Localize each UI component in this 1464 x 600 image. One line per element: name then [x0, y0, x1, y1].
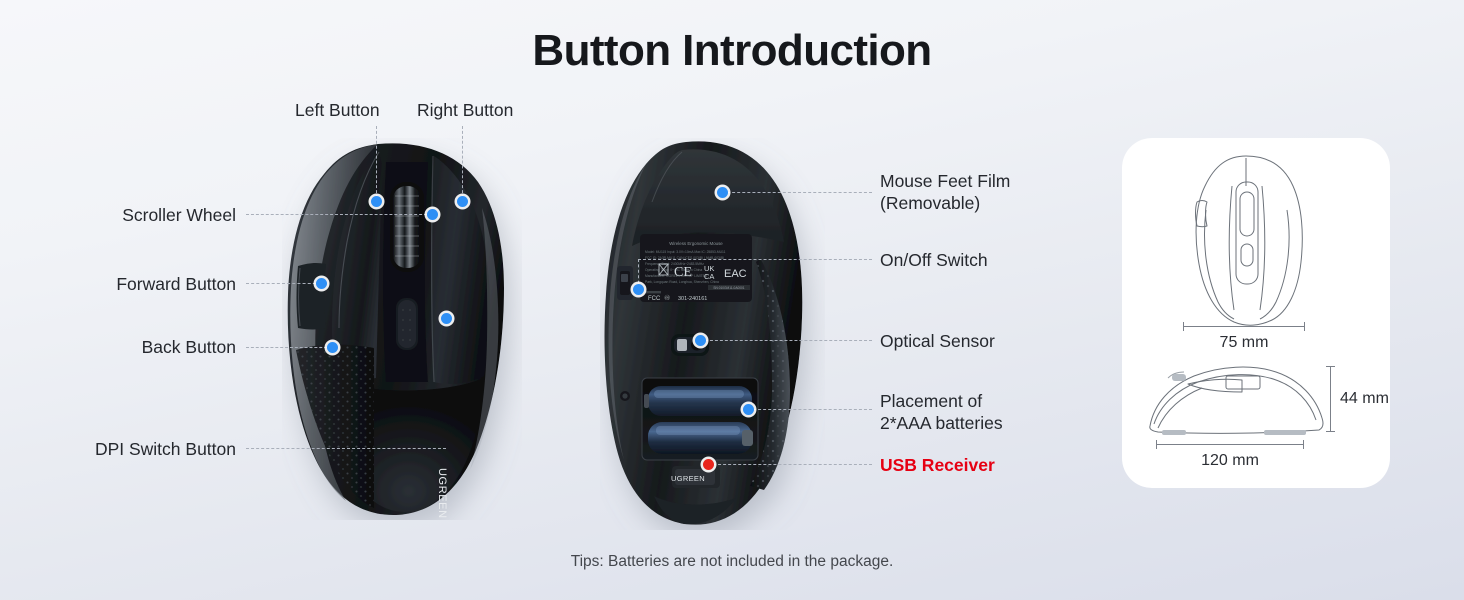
svg-text:CA: CA: [704, 272, 714, 281]
callout-label-scroller-wheel: Scroller Wheel: [36, 204, 236, 226]
dimension-height-label: 44 mm: [1340, 390, 1389, 408]
callout-label-right-button: Right Button: [417, 99, 513, 121]
leader-line-right-button: [462, 126, 463, 198]
dimension-tick-width-left: [1183, 322, 1184, 331]
leader-line-forward-button: [246, 283, 321, 284]
hotspot-back-button[interactable]: [327, 342, 338, 353]
leader-line-scroller-wheel: [246, 214, 432, 215]
callout-label-battery-placement: Placement of 2*AAA batteries: [880, 390, 1100, 434]
callout-label-left-button: Left Button: [295, 99, 380, 121]
battery-compartment: [642, 378, 758, 460]
dimension-side-view-outline: [1144, 364, 1344, 442]
callout-label-usb-receiver: USB Receiver: [880, 454, 1100, 476]
hotspot-right-button[interactable]: [457, 196, 468, 207]
leader-line-usb-receiver: [708, 464, 872, 465]
leader-line-back-button: [246, 347, 332, 348]
regulatory-label: Wireless Ergonomic Mouse Model: MU115 In…: [640, 234, 752, 302]
dimension-bar-length: [1156, 444, 1304, 445]
leader-line-optical-sensor: [700, 340, 872, 341]
dimension-tick-height-top: [1326, 366, 1335, 367]
mouse-bottom-view-image: Wireless Ergonomic Mouse Model: MU115 In…: [600, 138, 825, 530]
leader-line-mouse-feet-film: [722, 192, 872, 193]
hotspot-forward-button[interactable]: [316, 278, 327, 289]
page-title: Button Introduction: [0, 26, 1464, 76]
callout-label-dpi-switch-button: DPI Switch Button: [36, 438, 236, 460]
dimension-length-label: 120 mm: [1122, 452, 1338, 470]
dimension-bar-width: [1183, 326, 1305, 327]
ugreen-logo-receiver: UGREEN: [671, 474, 705, 483]
hotspot-scroller-wheel[interactable]: [427, 209, 438, 220]
ugreen-logo-top-view: UGREEN: [436, 468, 448, 519]
leader-line-left-button: [376, 126, 377, 198]
usb-receiver: UGREEN: [671, 466, 720, 488]
svg-text:FCC: FCC: [648, 296, 661, 302]
hotspot-battery-placement[interactable]: [743, 404, 754, 415]
dimension-tick-length-right: [1303, 440, 1304, 449]
svg-text:CE: CE: [674, 265, 692, 280]
callout-label-back-button: Back Button: [36, 336, 236, 358]
callout-label-mouse-feet-film: Mouse Feet Film (Removable): [880, 170, 1100, 214]
svg-text:EAC: EAC: [724, 268, 747, 280]
svg-text:♾: ♾: [664, 294, 670, 302]
hotspot-dpi-switch-button[interactable]: [441, 313, 452, 324]
tips-note: Tips: Batteries are not included in the …: [0, 553, 1464, 571]
svg-text:301-240161: 301-240161: [678, 296, 707, 302]
svg-text:Wireless Ergonomic Mouse: Wireless Ergonomic Mouse: [669, 241, 723, 246]
leader-line-on-off-switch: [638, 259, 872, 260]
dimension-bar-height: [1330, 366, 1331, 432]
dimension-tick-length-left: [1156, 440, 1157, 449]
dimension-tick-width-right: [1304, 322, 1305, 331]
svg-text:Model: MU115 Input: 3.0V=10m: Model: MU115 Input: 3.0V=10mA Max IC: 25…: [645, 250, 726, 254]
hotspot-mouse-feet-film[interactable]: [717, 187, 728, 198]
dimension-tick-height-bottom: [1326, 431, 1335, 432]
dimension-top-view-outline: [1184, 152, 1308, 328]
leader-line-battery-placement: [748, 409, 872, 410]
svg-text:SN:010GM11-0A0001: SN:010GM11-0A0001: [713, 286, 744, 290]
mouse-top-view-image: UGREEN: [282, 138, 522, 520]
callout-label-on-off-switch: On/Off Switch: [880, 249, 1100, 271]
dimension-card: 75 mm 44 mm 120 mm: [1122, 138, 1390, 488]
hotspot-usb-receiver[interactable]: [703, 459, 714, 470]
callout-label-optical-sensor: Optical Sensor: [880, 330, 1100, 352]
leader-line-dpi-switch-button: [246, 448, 446, 449]
hotspot-on-off-switch[interactable]: [633, 284, 644, 295]
on-off-switch: [617, 266, 633, 300]
hotspot-left-button[interactable]: [371, 196, 382, 207]
hotspot-optical-sensor[interactable]: [695, 335, 706, 346]
callout-label-forward-button: Forward Button: [36, 273, 236, 295]
dimension-width-label: 75 mm: [1122, 334, 1366, 352]
